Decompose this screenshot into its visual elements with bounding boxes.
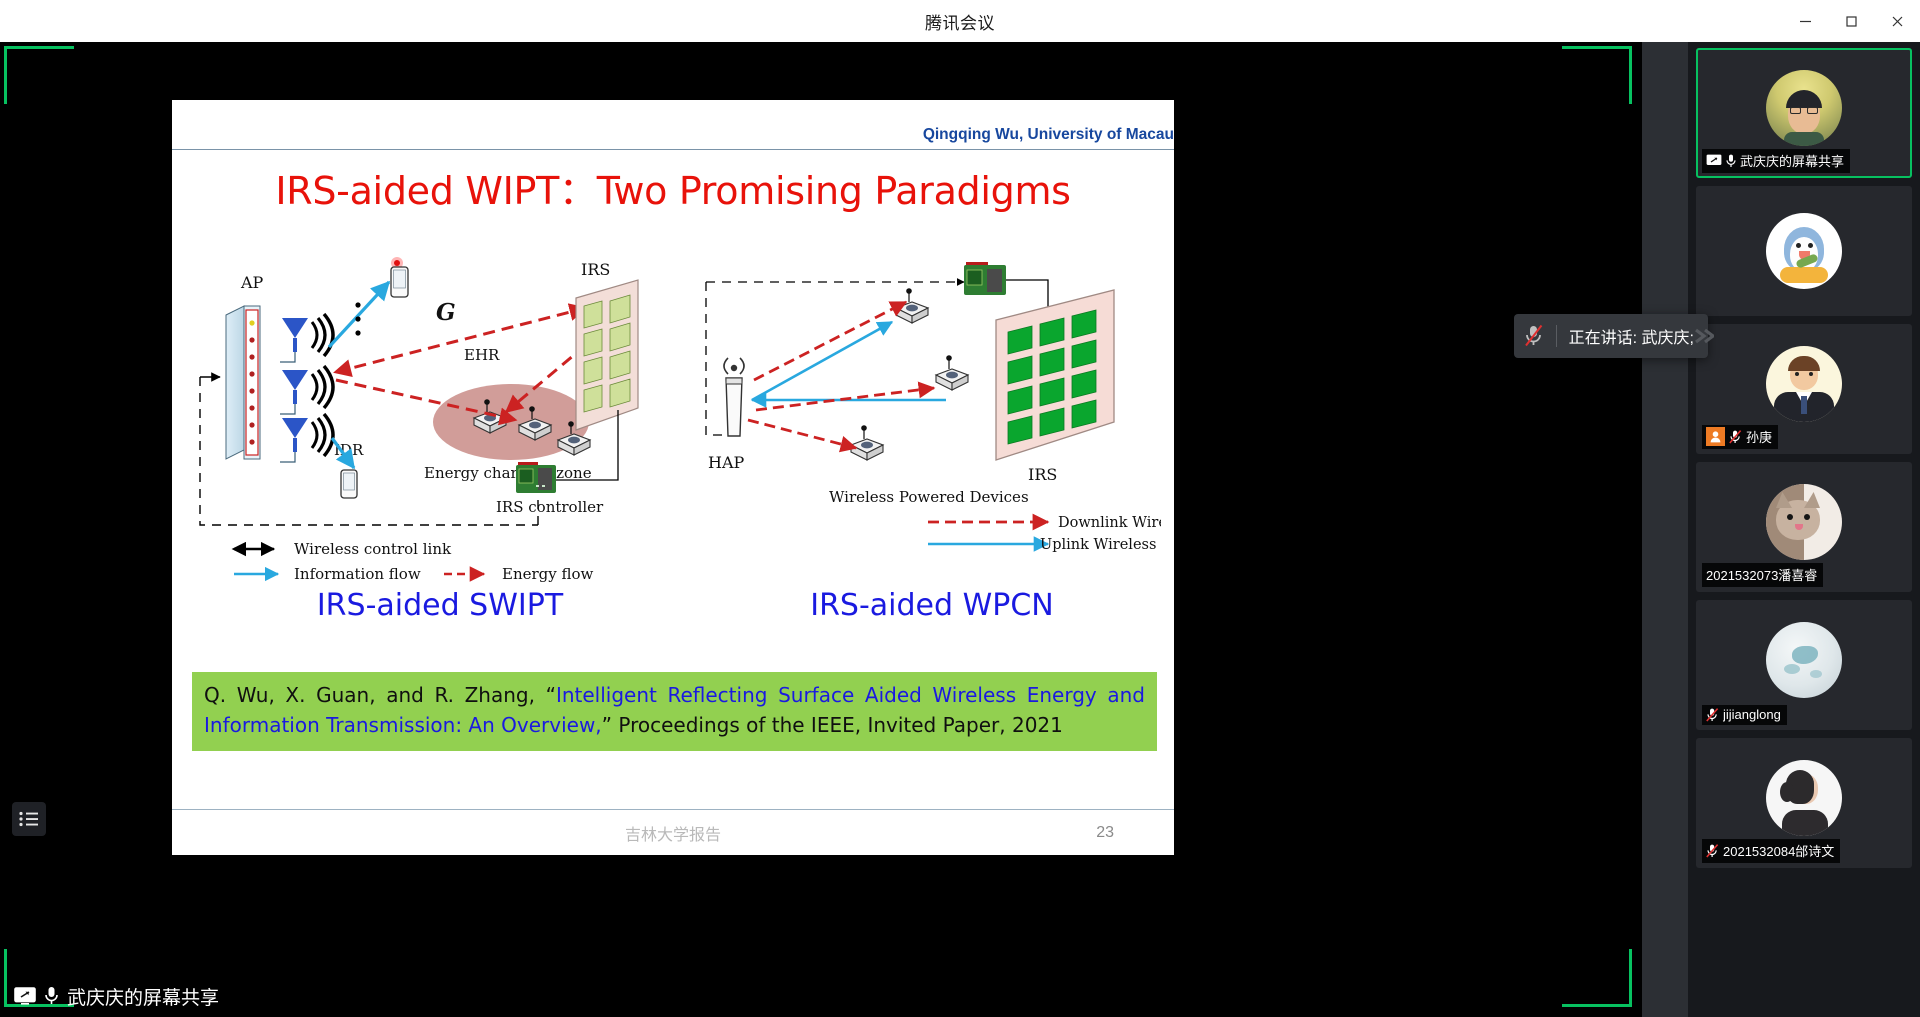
paradigm-label-right: IRS-aided WPCN xyxy=(732,588,1132,623)
participant-label: 孙庚 xyxy=(1702,425,1778,449)
list-icon xyxy=(19,811,39,827)
irs-label-right: IRS xyxy=(1028,465,1057,484)
ap-node xyxy=(226,306,260,459)
slide-footer-text: 吉林大学报告 xyxy=(172,821,1174,845)
participant-rail[interactable]: 武庆庆的屏幕共享 xyxy=(1688,42,1920,1017)
minimize-button[interactable] xyxy=(1782,0,1828,42)
idr-phone xyxy=(341,470,357,498)
irs-panel-left xyxy=(576,280,638,430)
legend-uplink-info-transmission: Uplink Wireless Information Transmission xyxy=(1040,537,1161,553)
ap-antennas xyxy=(280,314,333,462)
microphone-icon[interactable] xyxy=(44,986,59,1006)
toast-divider xyxy=(1556,325,1557,347)
citation-box: Q. Wu, X. Guan, and R. Zhang, “Intellige… xyxy=(192,672,1157,751)
participant-name: 2021532073潘喜睿 xyxy=(1706,565,1817,584)
wireless-powered-devices-label: Wireless Powered Devices xyxy=(829,488,1029,506)
participant-name: 武庆庆的屏幕共享 xyxy=(1740,151,1844,170)
screen-share-icon xyxy=(14,987,36,1005)
irs-label-left: IRS xyxy=(581,260,610,279)
microphone-muted-icon xyxy=(1706,708,1719,722)
microphone-muted-icon xyxy=(1706,844,1719,858)
channel-g-label: G xyxy=(436,299,456,326)
irs-panel-right xyxy=(996,290,1114,460)
avatar xyxy=(1766,70,1842,146)
microphone-muted-icon xyxy=(1524,324,1544,348)
participant-label: 2021532084邰诗文 xyxy=(1702,839,1840,863)
app-body: Qingqing Wu, University of Macau IRS-aid… xyxy=(0,42,1920,1017)
wpd-device-2 xyxy=(936,355,968,390)
wpd-device-1 xyxy=(896,288,928,323)
maximize-button[interactable] xyxy=(1828,0,1874,42)
slide-footer: 吉林大学报告 23 xyxy=(172,809,1174,855)
ap-label: AP xyxy=(240,273,264,292)
avatar xyxy=(1766,760,1842,836)
citation-suffix: ” Proceedings of the IEEE, Invited Paper… xyxy=(602,713,1063,737)
avatar xyxy=(1766,622,1842,698)
host-badge-icon xyxy=(1706,427,1725,446)
participant-label: 2021532073潘喜睿 xyxy=(1702,563,1823,587)
left-diagram-group: AP IDR xyxy=(200,257,638,583)
speaking-toast-text: 正在讲话: 武庆庆; xyxy=(1569,324,1694,348)
legend-wireless-control-link: Wireless control link xyxy=(294,540,452,558)
window-title: 腾讯会议 xyxy=(925,9,995,34)
participant-tile[interactable]: 2021532084邰诗文 xyxy=(1696,738,1912,868)
energy-charging-zone-label: Energy charging zone xyxy=(424,464,592,482)
sharing-status-text: 武庆庆的屏幕共享 xyxy=(67,983,219,1010)
sharing-status-bar: 武庆庆的屏幕共享 xyxy=(0,975,233,1017)
slide-page-number: 23 xyxy=(1096,824,1114,842)
presentation-slide: Qingqing Wu, University of Macau IRS-aid… xyxy=(172,100,1174,855)
irs-controller-left xyxy=(516,462,556,493)
close-button[interactable] xyxy=(1874,0,1920,42)
share-corner-top-right xyxy=(1562,46,1632,104)
right-diagram-group: HAP xyxy=(706,262,1161,553)
shared-screen-stage[interactable]: Qingqing Wu, University of Macau IRS-aid… xyxy=(0,42,1642,1017)
irs-controller-right xyxy=(964,262,1006,295)
paradigm-label-left: IRS-aided SWIPT xyxy=(260,588,620,623)
hap-label: HAP xyxy=(708,453,745,472)
chevron-right-icon xyxy=(1692,328,1714,344)
slide-title: IRS-aided WIPT：Two Promising Paradigms xyxy=(172,160,1174,215)
avatar xyxy=(1766,213,1842,289)
participant-tile[interactable]: 武庆庆的屏幕共享 xyxy=(1696,48,1912,178)
idr-label: IDR xyxy=(334,441,364,459)
vertical-dots xyxy=(355,302,360,335)
avatar xyxy=(1766,484,1842,560)
wpd-device-3 xyxy=(851,425,883,460)
legend-energy-flow: Energy flow xyxy=(502,565,594,583)
left-legend: Wireless control link Information flow E… xyxy=(234,540,594,583)
window-title-bar: 腾讯会议 xyxy=(0,0,1920,42)
participant-tile[interactable]: 孙庚 xyxy=(1696,324,1912,454)
ehr-label: EHR xyxy=(464,346,500,364)
slide-list-button[interactable] xyxy=(12,802,46,836)
participant-tile[interactable]: jijianglong xyxy=(1696,600,1912,730)
microphone-icon xyxy=(1726,154,1736,168)
slide-author: Qingqing Wu, University of Macau xyxy=(923,126,1174,144)
microphone-muted-icon xyxy=(1729,430,1742,444)
legend-downlink-power-transfer: Downlink Wireless Power Transfer xyxy=(1058,515,1161,531)
participant-label: jijianglong xyxy=(1702,705,1787,725)
share-corner-bottom-right xyxy=(1562,949,1632,1007)
screen-share-icon xyxy=(1706,154,1722,167)
avatar xyxy=(1766,346,1842,422)
top-phone xyxy=(391,257,408,297)
participant-label: 武庆庆的屏幕共享 xyxy=(1702,149,1850,173)
right-legend: Downlink Wireless Power Transfer Uplink … xyxy=(928,515,1161,553)
share-corner-top-left xyxy=(4,46,74,104)
legend-information-flow: Information flow xyxy=(294,565,421,583)
irs-controller-label: IRS controller xyxy=(496,498,604,516)
window-controls xyxy=(1782,0,1920,42)
participant-name: jijianglong xyxy=(1723,707,1781,722)
hap-node xyxy=(724,358,744,436)
participant-tile[interactable] xyxy=(1696,186,1912,316)
participant-name: 2021532084邰诗文 xyxy=(1723,841,1834,860)
citation-prefix: Q. Wu, X. Guan, and R. Zhang, “ xyxy=(204,683,556,707)
toast-collapse-button[interactable] xyxy=(1692,314,1714,358)
slide-figure: AP IDR xyxy=(186,240,1161,580)
speaking-toast[interactable]: 正在讲话: 武庆庆; xyxy=(1514,314,1708,358)
participant-tile[interactable]: 2021532073潘喜睿 xyxy=(1696,462,1912,592)
participant-name: 孙庚 xyxy=(1746,427,1772,446)
